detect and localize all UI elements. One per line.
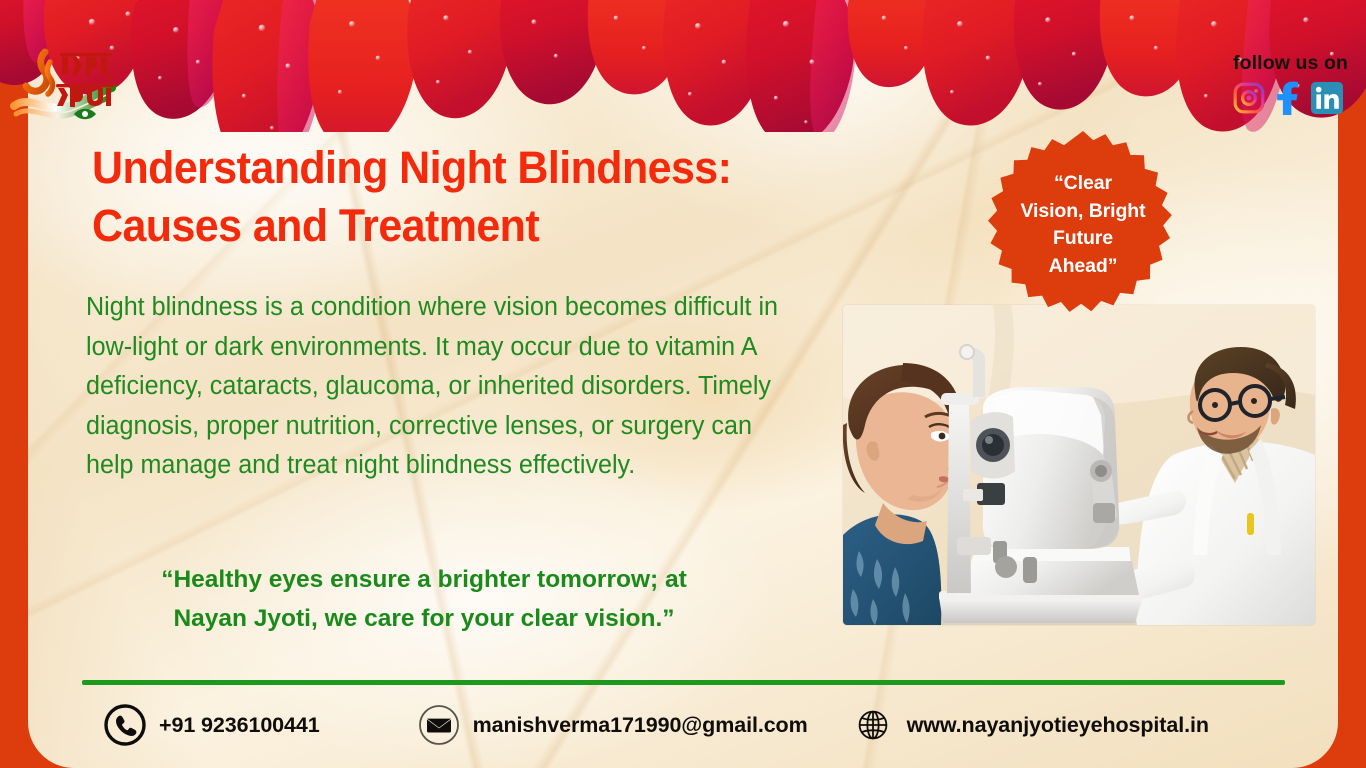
starburst-badge: “Clear Vision, Bright Future Ahead” xyxy=(958,127,1208,323)
quote-line-1: “Healthy eyes ensure a brighter tomorrow… xyxy=(74,560,774,599)
badge-line-3: Future xyxy=(1053,225,1113,253)
footer-website-item[interactable]: www.nayanjyotieyehospital.in xyxy=(852,704,1209,746)
badge-text: “Clear Vision, Bright Future Ahead” xyxy=(958,127,1208,323)
social-icon-row xyxy=(1233,81,1348,115)
instagram-icon[interactable] xyxy=(1233,82,1265,114)
tagline-quote: “Healthy eyes ensure a brighter tomorrow… xyxy=(74,560,774,638)
phone-icon xyxy=(104,704,146,746)
badge-line-4: Ahead” xyxy=(1049,253,1118,281)
footer-phone-text: +91 9236100441 xyxy=(159,713,320,738)
linkedin-icon[interactable] xyxy=(1311,82,1343,114)
page-title: Understanding Night Blindness: Causes an… xyxy=(92,139,885,254)
follow-us-label: follow us on xyxy=(1233,54,1348,74)
headline-line-1: Understanding Night Blindness: xyxy=(92,139,885,197)
footer-divider xyxy=(82,680,1285,685)
badge-line-1: “Clear xyxy=(1054,170,1112,198)
footer-email-item[interactable]: manishverma171990@gmail.com xyxy=(418,704,808,746)
quote-line-2: Nayan Jyoti, we care for your clear visi… xyxy=(74,599,774,638)
eye-exam-photo xyxy=(843,305,1315,625)
brand-logo[interactable] xyxy=(8,36,156,128)
poster-canvas: follow us on xyxy=(0,0,1366,768)
globe-icon xyxy=(852,704,894,746)
headline-line-2: Causes and Treatment xyxy=(92,197,885,255)
follow-us-block: follow us on xyxy=(1233,54,1348,115)
envelope-icon xyxy=(418,704,460,746)
footer-website-text: www.nayanjyotieyehospital.in xyxy=(907,713,1209,738)
body-paragraph: Night blindness is a condition where vis… xyxy=(86,288,795,486)
rose-petal-border-decoration xyxy=(0,0,1366,132)
footer-contact-bar: +91 9236100441 manishverma171990@gmail.c… xyxy=(82,698,1292,752)
footer-phone-item[interactable]: +91 9236100441 xyxy=(104,704,320,746)
badge-line-2: Vision, Bright xyxy=(1021,198,1146,226)
facebook-icon[interactable] xyxy=(1275,81,1301,115)
diya-flame-icon xyxy=(26,52,52,94)
footer-email-text: manishverma171990@gmail.com xyxy=(473,713,808,738)
